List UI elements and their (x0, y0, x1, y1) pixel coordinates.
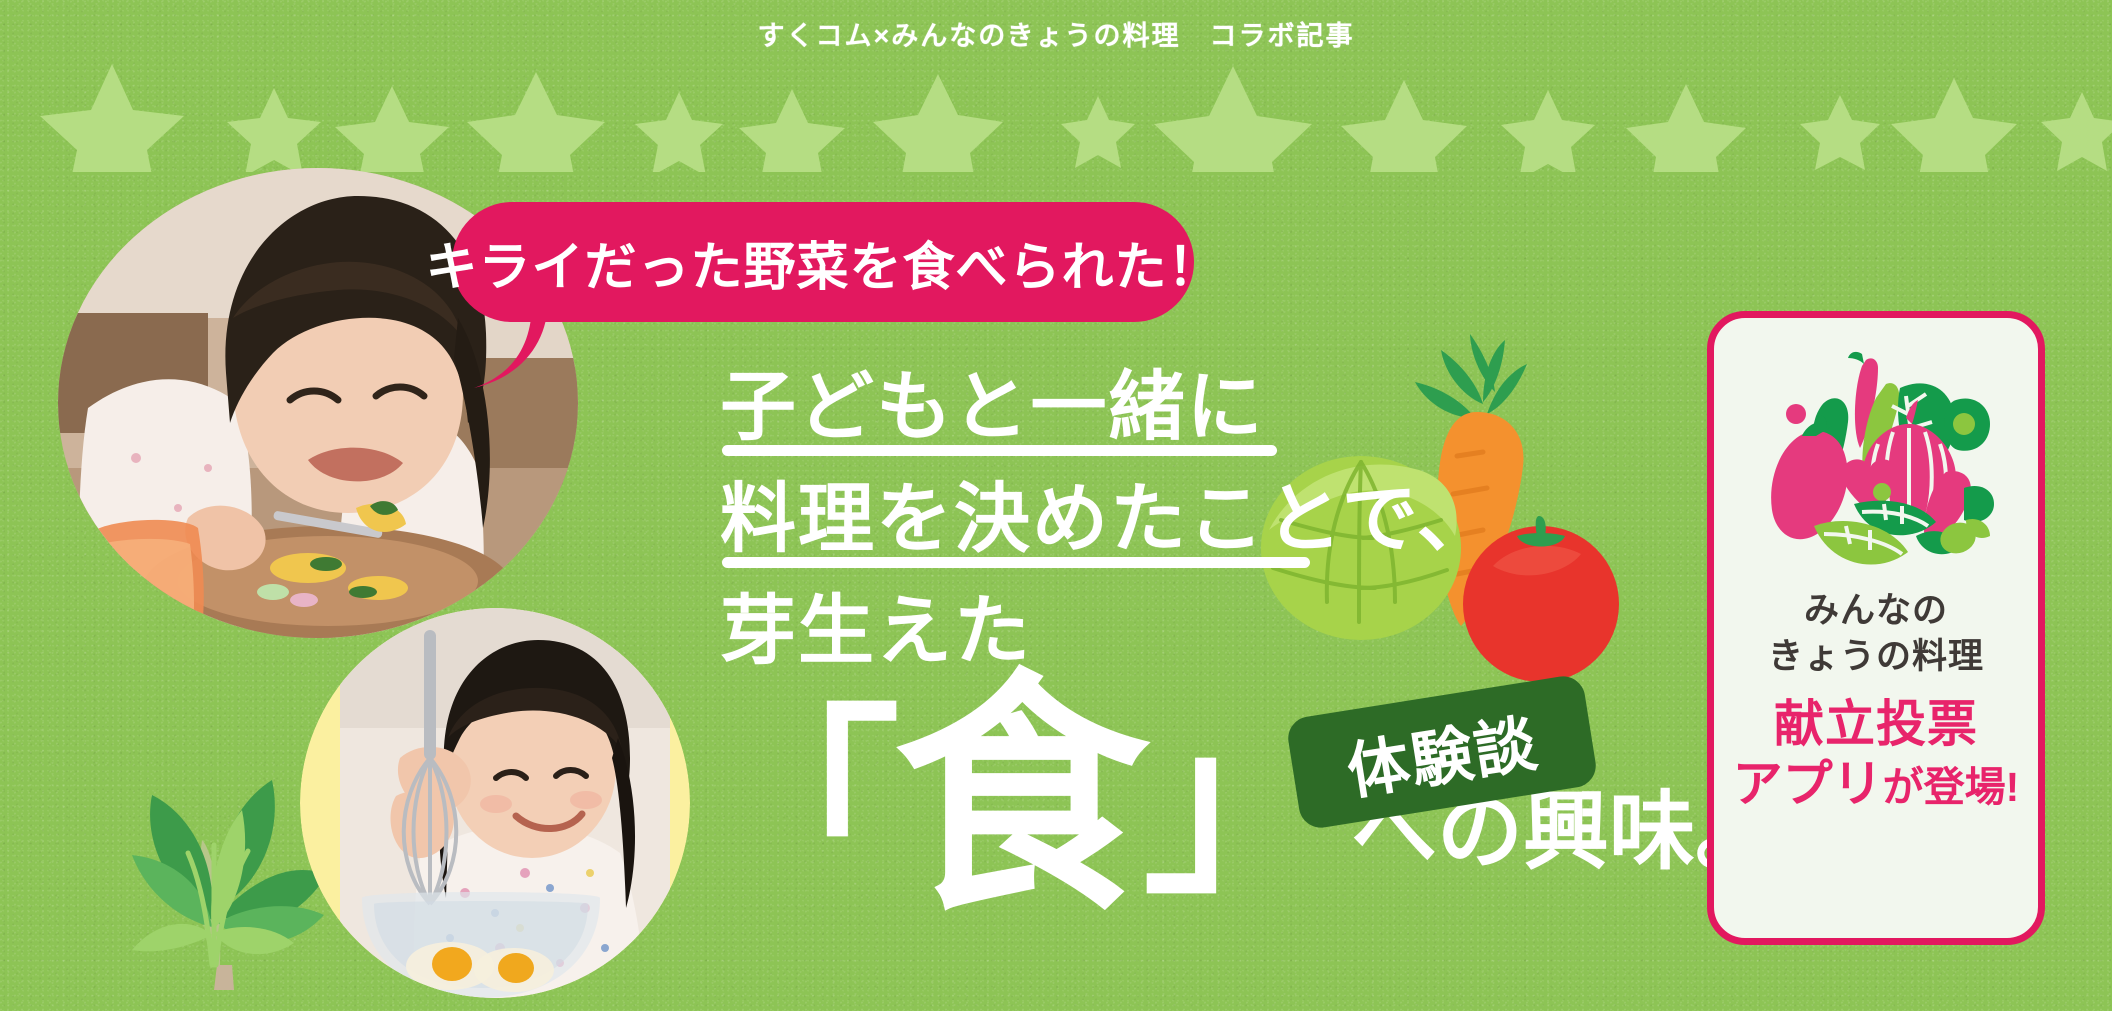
star-decoration-row (0, 62, 2112, 172)
logo-wordmark-line-1: みんなの (1768, 588, 1984, 634)
app-cta-strong: アプリ (1733, 756, 1883, 812)
minna-no-kyou-no-ryouri-logo-icon (1750, 344, 2002, 582)
emphasis-kanji: 食 (894, 690, 1149, 905)
logo-wordmark: みんなの きょうの料理 (1768, 588, 1984, 680)
logo-wordmark-line-2: きょうの料理 (1768, 634, 1984, 680)
bracket-open: 「 (700, 705, 900, 905)
girl-whisking-photo (300, 608, 690, 998)
app-promo-card[interactable]: みんなの きょうの料理 献立投票 アプリが登場! (1707, 311, 2045, 945)
headline-emphasis-line: 「 食 」 への興味。 (700, 690, 1781, 905)
speech-bubble-text: キライだった野菜を食べられた！ (426, 225, 1221, 300)
app-cta-line-2: アプリが登場! (1733, 754, 2020, 817)
experience-badge-label: 体験談 (1340, 693, 1544, 812)
app-cta-line-1: 献立投票 (1733, 694, 2020, 754)
app-cta-text: 献立投票 アプリが登場! (1733, 694, 2020, 817)
headline-line-1: 子どもと一緒に (720, 352, 1495, 464)
speech-bubble: キライだった野菜を食べられた！ (452, 202, 1194, 322)
headline-line-2: 料理を決めたことで、 (720, 464, 1495, 576)
app-cta-rest: が登場! (1883, 764, 2020, 810)
promo-banner: すくコム×みんなのきょうの料理 コラボ記事 (0, 0, 2112, 1011)
headline-block: 子どもと一緒に 料理を決めたことで、 芽生えた (720, 352, 1495, 688)
collab-label: すくコム×みんなのきょうの料理 コラボ記事 (0, 14, 2112, 53)
